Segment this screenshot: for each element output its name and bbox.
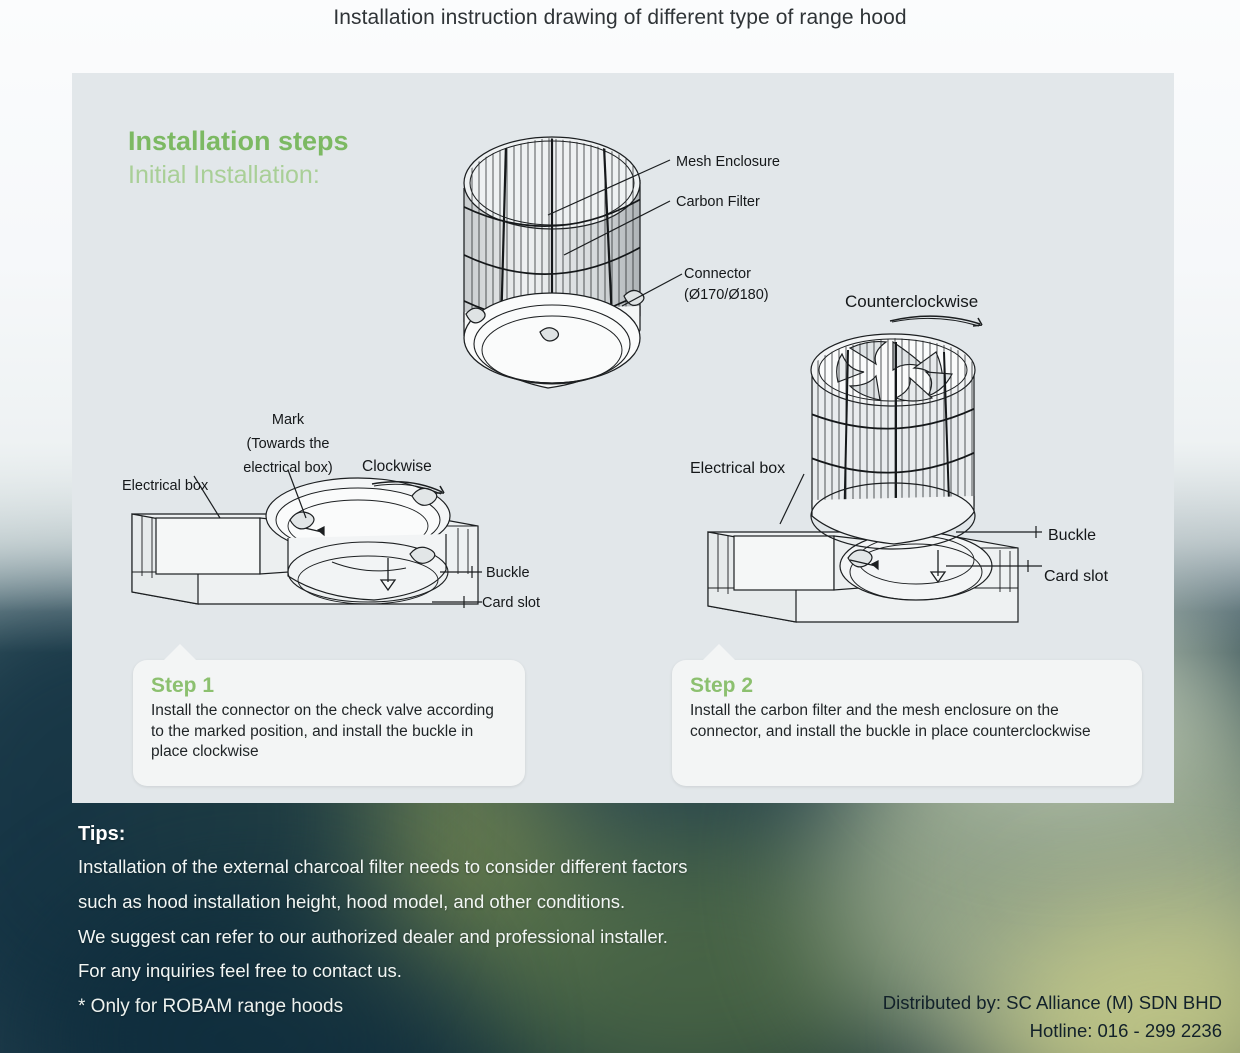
counterclockwise-arrow-icon xyxy=(880,312,990,336)
clockwise-arrow-icon xyxy=(368,478,450,500)
installation-steps-title: Installation steps xyxy=(128,126,349,158)
label-electrical-box-right: Electrical box xyxy=(690,458,785,481)
label-mark-line3: electrical box) xyxy=(228,458,348,479)
label-connector-line1: Connector xyxy=(684,264,751,285)
label-buckle-right: Buckle xyxy=(1048,525,1096,548)
label-card-slot-right: Card slot xyxy=(1044,566,1108,589)
step-2-body: Install the carbon filter and the mesh e… xyxy=(690,701,1124,742)
label-mesh-enclosure: Mesh Enclosure xyxy=(676,152,780,173)
label-card-slot-left: Card slot xyxy=(482,593,540,614)
tips-heading: Tips: xyxy=(78,818,958,850)
distributor-block: Distributed by: SC Alliance (M) SDN BHD … xyxy=(883,989,1222,1045)
tips-line-1: Installation of the external charcoal fi… xyxy=(78,850,958,885)
tips-line-2: such as hood installation height, hood m… xyxy=(78,885,958,920)
label-mark-line2: (Towards the xyxy=(228,434,348,455)
step-1-callout-tail xyxy=(163,644,197,661)
step-1-body: Install the connector on the check valve… xyxy=(151,701,507,763)
step-2-callout: Step 2 Install the carbon filter and the… xyxy=(672,660,1142,786)
installation-steps-heading: Installation steps Initial Installation: xyxy=(128,126,349,190)
distributed-by-text: Distributed by: SC Alliance (M) SDN BHD xyxy=(883,989,1222,1017)
step-1-label: Step 1 xyxy=(151,674,507,698)
tips-note: * Only for ROBAM range hoods xyxy=(78,989,958,1025)
label-electrical-box-left: Electrical box xyxy=(122,476,208,497)
step-2-label: Step 2 xyxy=(690,674,1124,698)
label-mark-line1: Mark xyxy=(232,410,344,431)
tips-section: Tips: Installation of the external charc… xyxy=(78,818,958,1025)
step1-leader-lines xyxy=(172,470,532,610)
tips-line-3: We suggest can refer to our authorized d… xyxy=(78,920,958,955)
label-carbon-filter: Carbon Filter xyxy=(676,192,760,213)
page-title: Installation instruction drawing of diff… xyxy=(0,6,1240,30)
tips-line-4: For any inquiries feel free to contact u… xyxy=(78,954,958,989)
label-clockwise: Clockwise xyxy=(362,456,432,478)
label-buckle-left: Buckle xyxy=(486,563,530,584)
label-connector-line2: (Ø170/Ø180) xyxy=(684,285,769,306)
initial-installation-subtitle: Initial Installation: xyxy=(128,160,349,190)
step-2-callout-tail xyxy=(702,644,736,661)
label-counterclockwise: Counterclockwise xyxy=(845,290,978,314)
step-1-callout: Step 1 Install the connector on the chec… xyxy=(133,660,525,786)
hotline-text: Hotline: 016 - 299 2236 xyxy=(883,1017,1222,1045)
step2-leader-lines xyxy=(760,470,1050,590)
